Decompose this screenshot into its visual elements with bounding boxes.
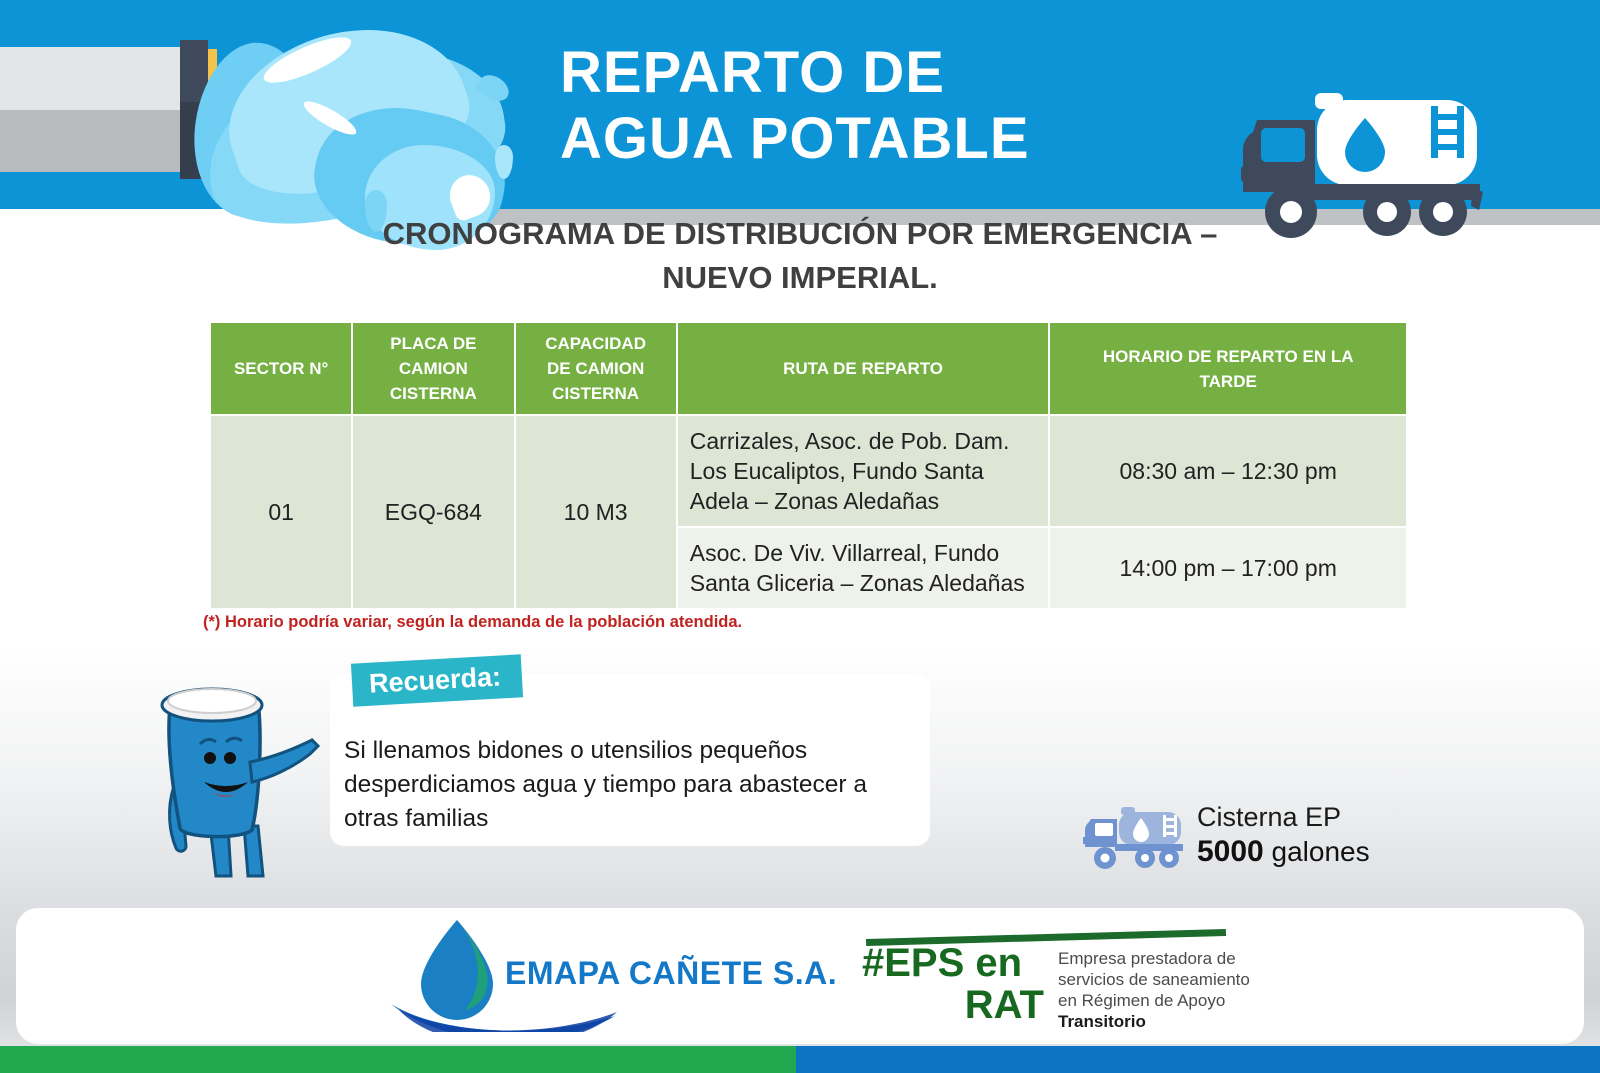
schedule-note: (*) Horario podría variar, según la dema… (203, 613, 742, 632)
col-header-sector: SECTOR N° (211, 323, 351, 414)
eps-desc-line-2: servicios de saneamiento (1058, 969, 1258, 990)
cell-placa: EGQ-684 (353, 416, 513, 608)
emapa-logo-name: EMAPA CAÑETE S.A. (505, 955, 837, 992)
poster-canvas: REPARTO DE AGUA POTABLE (0, 0, 1600, 1073)
schedule-table: SECTOR N° PLACA DE CAMION CISTERNA CAPAC… (209, 321, 1408, 610)
cell-horario: 14:00 pm – 17:00 pm (1050, 528, 1406, 608)
eps-desc-line-1: Empresa prestadora de (1058, 948, 1258, 969)
water-bucket-mascot-icon (132, 658, 332, 878)
col-header-sector-label: SECTOR N° (234, 359, 328, 378)
cisterna-info: Cisterna EP 5000 galones (1075, 800, 1405, 880)
cell-ruta: Asoc. De Viv. Villarreal, Fundo Santa Gl… (678, 528, 1049, 608)
cisterna-amount: 5000 (1197, 835, 1264, 868)
cistern-truck-icon (1075, 806, 1190, 872)
footer-bar-green (0, 1046, 796, 1073)
cisterna-label: Cisterna EP (1197, 800, 1417, 834)
cisterna-unit: galones (1272, 836, 1370, 867)
cell-horario: 08:30 am – 12:30 pm (1050, 416, 1406, 526)
eps-desc-line-4: Transitorio (1058, 1012, 1146, 1031)
title-line-2: AGUA POTABLE (560, 106, 1220, 172)
pipe-with-water-icon (0, 47, 200, 172)
col-header-horario: HORARIO DE REPARTO EN LA TARDE (1050, 323, 1406, 414)
cell-ruta: Carrizales, Asoc. de Pob. Dam. Los Eucal… (678, 416, 1049, 526)
col-header-ruta: RUTA DE REPARTO (678, 323, 1049, 414)
cell-sector: 01 (211, 416, 351, 608)
eps-hashtag-line-1: #EPS en (862, 941, 1022, 985)
col-header-placa: PLACA DE CAMION CISTERNA (353, 323, 513, 414)
cell-capacidad: 10 M3 (516, 416, 676, 608)
footer-bar-blue (796, 1046, 1600, 1073)
title-line-1: REPARTO DE (560, 40, 945, 105)
table-row: 01 EGQ-684 10 M3 Carrizales, Asoc. de Po… (211, 416, 1406, 526)
subtitle-line-1: CRONOGRAMA DE DISTRIBUCIÓN POR EMERGENCI… (180, 212, 1420, 256)
page-title: REPARTO DE AGUA POTABLE (560, 40, 1220, 172)
subtitle: CRONOGRAMA DE DISTRIBUCIÓN POR EMERGENCI… (180, 212, 1420, 300)
table-header-row: SECTOR N° PLACA DE CAMION CISTERNA CAPAC… (211, 323, 1406, 414)
eps-hashtag-line-2: RAT (862, 984, 1062, 1026)
eps-en-rat-logo: #EPS en RAT Empresa prestadora de servic… (862, 912, 1262, 1032)
water-splash-icon (195, 25, 525, 230)
eps-desc-line-3: en Régimen de Apoyo (1058, 990, 1258, 1011)
col-header-capacidad: CAPACIDAD DE CAMION CISTERNA (516, 323, 676, 414)
recuerda-body-text: Si llenamos bidones o utensilios pequeño… (344, 734, 904, 836)
subtitle-line-2: NUEVO IMPERIAL. (180, 256, 1420, 300)
